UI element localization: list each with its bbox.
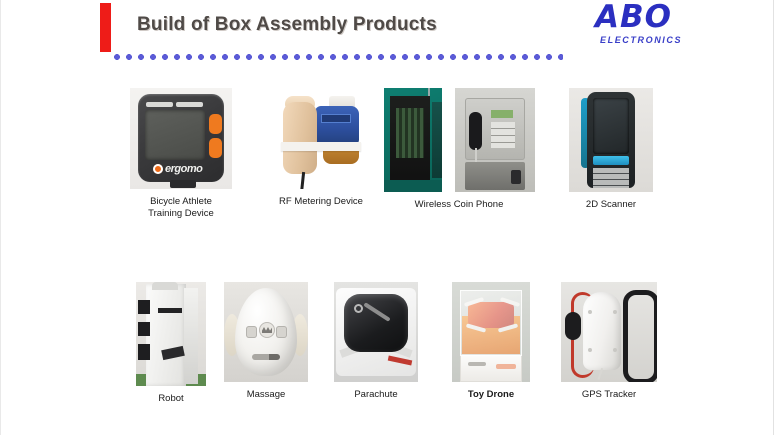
- product-card-rf-metering-device[interactable]: RF Metering Device: [251, 88, 391, 208]
- gps-tracker-photo: [561, 282, 657, 382]
- product-caption: Parachute: [316, 389, 436, 401]
- page-title: Build of Box Assembly Products: [137, 14, 437, 36]
- product-caption: GPS Tracker: [549, 389, 669, 401]
- product-caption: Bicycle Athlete Training Device: [111, 196, 251, 220]
- title-accent-bar: [100, 3, 111, 52]
- product-caption: Toy Drone: [431, 389, 551, 401]
- slide-canvas: Build of Box Assembly Products ABO ELECT…: [0, 0, 774, 435]
- coin-phone-photo-pair: [379, 88, 539, 192]
- rf-metering-device-photo: [277, 88, 365, 189]
- product-card-massage[interactable]: Massage: [206, 282, 326, 401]
- bicycle-training-computer-photo: ergomo: [130, 88, 232, 189]
- massage-device-photo: [224, 282, 308, 382]
- parachute-module-photo: [334, 282, 418, 382]
- logo-wordmark: ABO: [595, 2, 672, 33]
- product-card-bicycle-athlete-training-device[interactable]: ergomo Bicycle Athlete Training Device: [111, 88, 251, 220]
- coin-phone-kiosk-photo: [455, 88, 535, 192]
- 2d-scanner-photo: [569, 88, 653, 192]
- wireless-coin-phone-photo: [384, 88, 442, 192]
- product-card-parachute[interactable]: Parachute: [316, 282, 436, 401]
- abo-electronics-logo: ABO ELECTRONICS: [587, 2, 707, 52]
- product-card-wireless-coin-phone[interactable]: Wireless Coin Phone: [379, 88, 539, 211]
- product-card-gps-tracker[interactable]: GPS Tracker: [549, 282, 669, 401]
- product-caption: Massage: [206, 389, 326, 401]
- product-caption: Wireless Coin Phone: [379, 199, 539, 211]
- product-caption: RF Metering Device: [251, 196, 391, 208]
- product-card-toy-drone[interactable]: Toy Drone: [431, 282, 551, 401]
- product-card-2d-scanner[interactable]: 2D Scanner: [541, 88, 681, 211]
- toy-drone-photo: [452, 282, 530, 382]
- logo-tagline: ELECTRONICS: [600, 35, 682, 45]
- title-dotted-divider: [111, 54, 563, 60]
- robot-photo: [136, 282, 206, 386]
- product-caption: 2D Scanner: [541, 199, 681, 211]
